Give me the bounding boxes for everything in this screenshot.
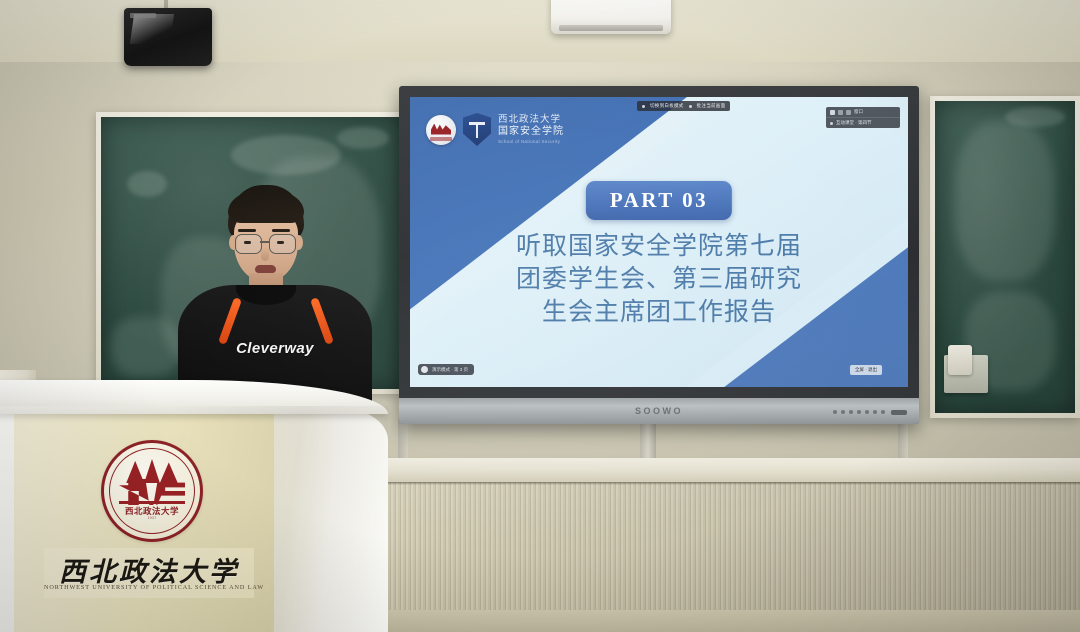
slide-title: 听取国家安全学院第七届 团委学生会、第三届研究 生会主席团工作报告 — [410, 229, 908, 328]
air-conditioner-icon: GREE — [551, 0, 671, 34]
glasses-lens-right-icon — [269, 234, 296, 254]
slide-logo-text: 西北政法大学 国家安全学院 School of National Securit… — [498, 114, 564, 145]
minimize-icon[interactable] — [838, 110, 843, 115]
display-button[interactable] — [833, 410, 837, 414]
lectern-nameplate: 西北政法大学 NORTHWEST UNIVERSITY OF POLITICAL… — [44, 548, 254, 598]
slide-top-toolbar[interactable]: 切换到白板模式 批注当前画面 — [637, 101, 730, 111]
display-screen[interactable]: 西北政法大学 国家安全学院 School of National Securit… — [410, 97, 908, 387]
university-seal-icon — [426, 115, 456, 145]
classroom-photo: GREE 西北政法大学 国家安全学院 School of National Se… — [0, 0, 1080, 632]
university-crest: 西北政法大学 1937 — [101, 440, 203, 542]
glasses-bridge — [260, 241, 269, 243]
toolbar-annotate-icon[interactable] — [689, 105, 692, 108]
slide-university-name: 西北政法大学 — [498, 114, 564, 126]
presenter-eye-right — [277, 241, 284, 244]
crest-baseline — [119, 501, 185, 504]
display-button[interactable] — [881, 410, 885, 414]
presenter-eye-left — [244, 241, 251, 244]
lectern: 西北政法大学 1937 西北政法大学 NORTHWEST UNIVERSITY … — [0, 380, 388, 632]
ac-vent — [559, 25, 663, 31]
side-panel-session-label: 互动课堂 · 第四节 — [836, 120, 872, 126]
toolbar-item-annotate[interactable]: 批注当前画面 — [697, 103, 726, 109]
presenter-mode-icon[interactable] — [421, 366, 428, 373]
jacket-brand-label: Cleverway — [170, 340, 380, 357]
display-button[interactable] — [873, 410, 877, 414]
lectern-top-surface — [0, 380, 388, 414]
display-hardware-buttons[interactable] — [833, 410, 885, 414]
presenter-brow-left — [238, 229, 256, 232]
side-panel-window-label: 窗口 — [854, 109, 863, 115]
crest-year-label: 1937 — [104, 516, 200, 520]
display-button[interactable] — [849, 410, 853, 414]
restore-icon[interactable] — [846, 110, 851, 115]
presentation-slide[interactable]: 西北政法大学 国家安全学院 School of National Securit… — [410, 97, 908, 387]
lectern-name-en: NORTHWEST UNIVERSITY OF POLITICAL SCIENC… — [44, 584, 254, 591]
window-icon[interactable] — [830, 110, 835, 115]
presenter-mouth — [255, 265, 276, 273]
presenter-fringe — [228, 191, 304, 223]
presenter-brow-right — [272, 229, 290, 232]
ac-brand-label: GREE — [551, 0, 671, 2]
toolbar-whiteboard-icon[interactable] — [642, 105, 645, 108]
display-button[interactable] — [857, 410, 861, 414]
slide-side-panel[interactable]: 窗口 互动课堂 · 第四节 — [826, 107, 900, 128]
wall-speaker-icon — [124, 8, 212, 66]
session-icon — [830, 122, 833, 125]
fullscreen-exit-label[interactable]: 全屏 · 退出 — [855, 367, 877, 373]
slide-college-name-en: School of National Security — [498, 139, 564, 145]
slide-part-badge: PART 03 — [586, 181, 732, 220]
slide-fullscreen-controls[interactable]: 全屏 · 退出 — [850, 365, 882, 375]
slide-logo-group: 西北政法大学 国家安全学院 School of National Securit… — [426, 113, 564, 146]
chalk-eraser-icon — [948, 345, 972, 375]
display-ir-sensor — [891, 410, 907, 415]
interactive-display[interactable]: 西北政法大学 国家安全学院 School of National Securit… — [399, 86, 919, 424]
presenter-page-label: 演示模式 · 第 3 页 — [432, 367, 468, 373]
display-button[interactable] — [841, 410, 845, 414]
slide-title-line-1: 听取国家安全学院第七届 — [410, 229, 908, 262]
slide-title-line-2: 团委学生会、第三届研究 — [410, 262, 908, 295]
display-bezel-bottom: SOOWO — [399, 398, 919, 424]
slide-presenter-controls[interactable]: 演示模式 · 第 3 页 — [418, 364, 474, 375]
side-panel-row-session[interactable]: 互动课堂 · 第四节 — [826, 118, 900, 128]
display-button[interactable] — [865, 410, 869, 414]
toolbar-item-whiteboard[interactable]: 切换到白板模式 — [650, 103, 684, 109]
slide-title-line-3: 生会主席团工作报告 — [410, 295, 908, 328]
presenter-nose — [261, 247, 269, 261]
glasses-lens-left-icon — [235, 234, 262, 254]
floor-strip — [388, 610, 1080, 632]
college-shield-icon — [463, 113, 491, 146]
side-panel-row-window[interactable]: 窗口 — [826, 107, 900, 118]
slide-college-name: 国家安全学院 — [498, 126, 564, 139]
